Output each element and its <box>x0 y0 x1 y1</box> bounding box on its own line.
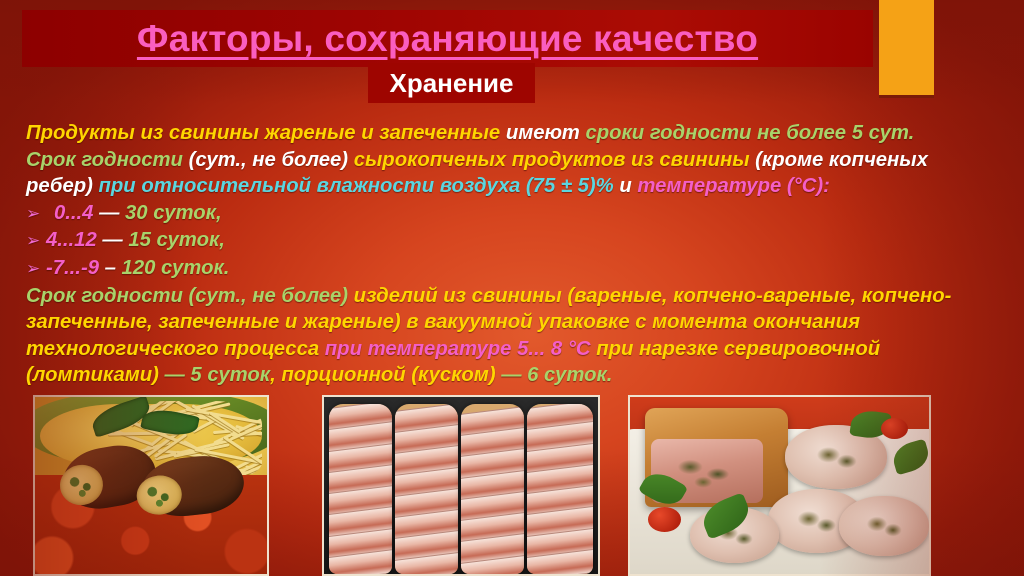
paragraph-3: Срок годности (сут., не более) изделий и… <box>26 283 1000 389</box>
bullet-value: 120 суток. <box>122 257 230 279</box>
p3-seg1: Срок годности (сут., не более) <box>26 285 348 307</box>
bullet-dash: — <box>97 229 129 251</box>
subtitle-chip: Хранение <box>368 63 535 103</box>
p2-seg2: (сут., не более) <box>183 149 354 171</box>
photo-pork-rolls-with-spaghetti <box>33 395 269 576</box>
p3-seg6: , порционной (куском) <box>270 364 501 386</box>
bullet-dash: — <box>93 202 125 224</box>
paragraph-2: Срок годности (сут., не более) сырокопче… <box>26 147 1000 200</box>
p1-seg1: Продукты из свинины жареные и запеченные <box>26 122 500 144</box>
p2-seg7: температуре (°C): <box>637 175 830 197</box>
list-item: ➢4...12 — 15 суток, <box>26 227 1000 255</box>
p1-seg2: имеют <box>500 122 585 144</box>
slide-body: Продукты из свинины жареные и запеченные… <box>26 120 1000 389</box>
page-title: Факторы, сохраняющие качество <box>22 12 873 66</box>
bullet-range: 0...4 <box>54 202 93 224</box>
temperature-shelflife-list: ➢0...4 — 30 суток, ➢4...12 — 15 суток, ➢… <box>26 200 1000 283</box>
p3-seg7: — 6 суток. <box>501 364 612 386</box>
bullet-range: 4...12 <box>46 229 97 251</box>
paragraph-1: Продукты из свинины жареные и запеченные… <box>26 120 1000 147</box>
bullet-value: 30 суток, <box>125 202 222 224</box>
bullet-dash: – <box>99 257 122 279</box>
bullet-value: 15 суток, <box>128 229 225 251</box>
list-item: ➢0...4 — 30 суток, <box>26 200 1000 228</box>
list-item: ➢-7...-9 – 120 суток. <box>26 255 1000 283</box>
p3-seg3: при температуре 5... 8 °C <box>325 338 591 360</box>
p1-seg3: сроки годности не более 5 сут. <box>585 122 914 144</box>
p3-seg5: — 5 суток <box>165 364 271 386</box>
accent-bar-orange <box>879 0 934 98</box>
p2-seg1: Срок годности <box>26 149 183 171</box>
bullet-arrow-icon: ➢ <box>26 228 46 255</box>
p2-seg3: сырокопченых продуктов из свинины <box>354 149 750 171</box>
bullet-range: -7...-9 <box>46 257 99 279</box>
bullet-arrow-icon: ➢ <box>26 201 46 228</box>
photo-sliced-baked-pork-roll <box>628 395 931 576</box>
photo-bacon-wrapped-pork-rolls <box>322 395 600 576</box>
presentation-slide: Факторы, сохраняющие качество Хранение П… <box>0 0 1024 576</box>
p2-seg5: при относительной влажности воздуха (75 … <box>99 175 614 197</box>
bullet-arrow-icon: ➢ <box>26 256 46 283</box>
subtitle-label: Хранение <box>390 68 514 99</box>
p2-seg6: и <box>614 175 638 197</box>
